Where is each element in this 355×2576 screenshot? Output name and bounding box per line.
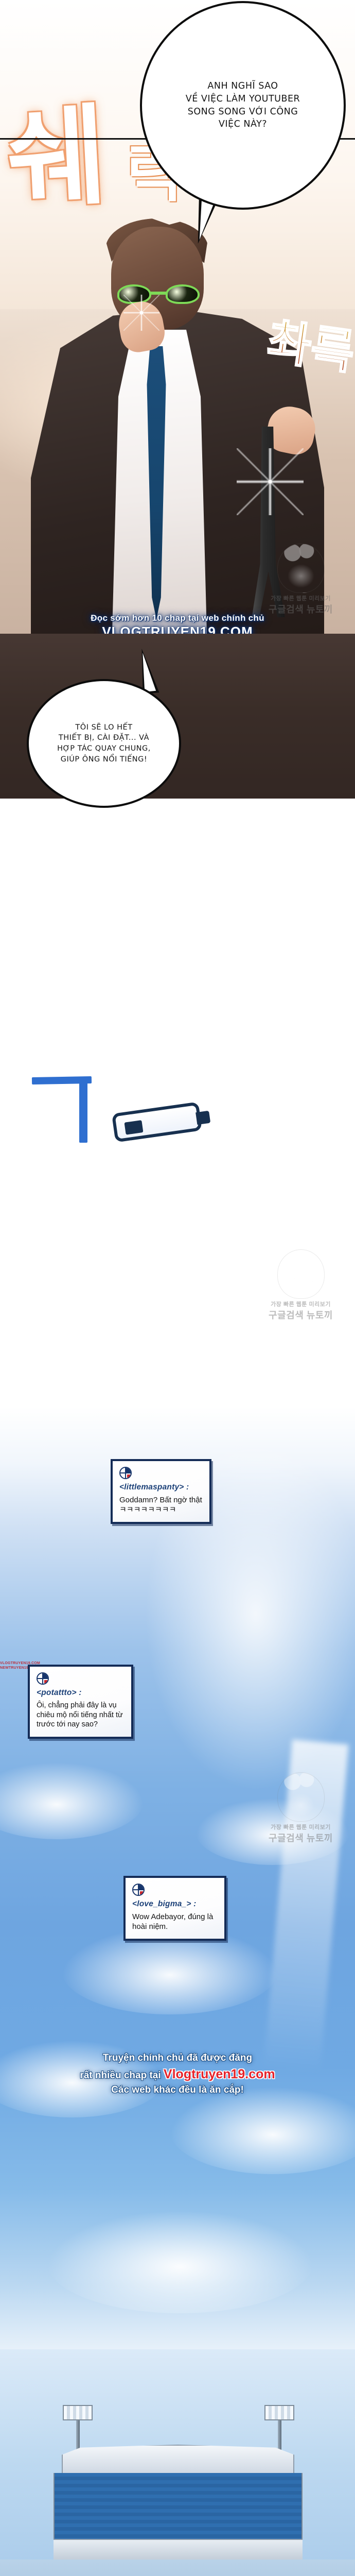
stadium-roof [62,2445,294,2475]
comment-body: Goddamn? Bất ngờ thật ㅋㅋㅋㅋㅋㅋㅋㅋ [119,1495,203,1515]
comment-card[interactable]: <potattto> : Ôi, chẳng phải đây là vụ ch… [28,1665,133,1739]
blue-sfx-stroke [79,1077,87,1143]
cloud [46,2210,314,2313]
green-sunglasses-icon [117,284,200,305]
cloud [0,2040,165,2117]
bubble-line: ANH NGHĨ SAO [163,80,323,93]
floodlight-lamp [264,2405,294,2420]
cloud [196,1798,350,1865]
speech-bubble-offer: TÔI SẼ LO HẾT THIẾT BỊ, CÀI ĐẶT... VÀ HỢ… [27,679,181,808]
stadium-field [0,2560,355,2576]
stadium-wall [54,2539,303,2560]
floodlight-lamp [63,2405,93,2420]
sfx-korean-left: 쉐 [5,107,109,209]
comment-body: Ôi, chẳng phải đây là vụ chiêu mộ nổi ti… [37,1701,125,1730]
newtoki-avatar-icon [37,1672,49,1685]
bubble-line: HỢP TÁC QUAY CHUNG, [42,743,166,754]
speech-bubble-text: TÔI SẼ LO HẾT THIẾT BỊ, CÀI ĐẶT... VÀ HỢ… [42,722,166,765]
comment-body: Wow Adebayor, đúng là hoài niệm. [132,1912,218,1931]
comment-username: <potattto> : [37,1688,125,1698]
bubble-line: SONG SONG VỚI CÔNG [163,106,323,118]
bubble-line: VIỆC NÀY? [163,118,323,131]
cloud [0,1762,144,1839]
bubble-line: THIẾT BỊ, CÀI ĐẶT... VÀ [42,733,166,743]
speech-bubble-text: ANH NGHĨ SAO VỀ VIỆC LÀM YOUTUBER SONG S… [163,80,323,131]
comment-card[interactable]: <littlemaspanty> : Goddamn? Bất ngờ thật… [111,1459,211,1524]
comment-username: <love_bigma_> : [132,1900,218,1909]
newtoki-avatar-icon [119,1467,132,1479]
sfx-korean-right: 촤륵 [265,319,355,376]
speech-bubble-question: ANH NGHĨ SAO VỀ VIỆC LÀM YOUTUBER SONG S… [140,1,346,210]
comment-username: <littlemaspanty> : [119,1483,203,1492]
webtoon-page: 쉐 릭 촤륵 ANH NGHĨ SAO VỀ VIỆC LÀM YOUTUBER… [0,0,355,2576]
bubble-line: VỀ VIỆC LÀM YOUTUBER [163,93,323,106]
newtoki-avatar-icon [132,1884,145,1896]
bubble-line: TÔI SẼ LO HẾT [42,722,166,733]
bubble-line: GIÚP ÔNG NỔI TIẾNG! [42,754,166,765]
cloud [170,2087,355,2174]
panel-white-usb [0,799,355,1406]
comment-card[interactable]: <love_bigma_> : Wow Adebayor, đúng là ho… [123,1876,226,1941]
stadium-stands [54,2473,303,2539]
